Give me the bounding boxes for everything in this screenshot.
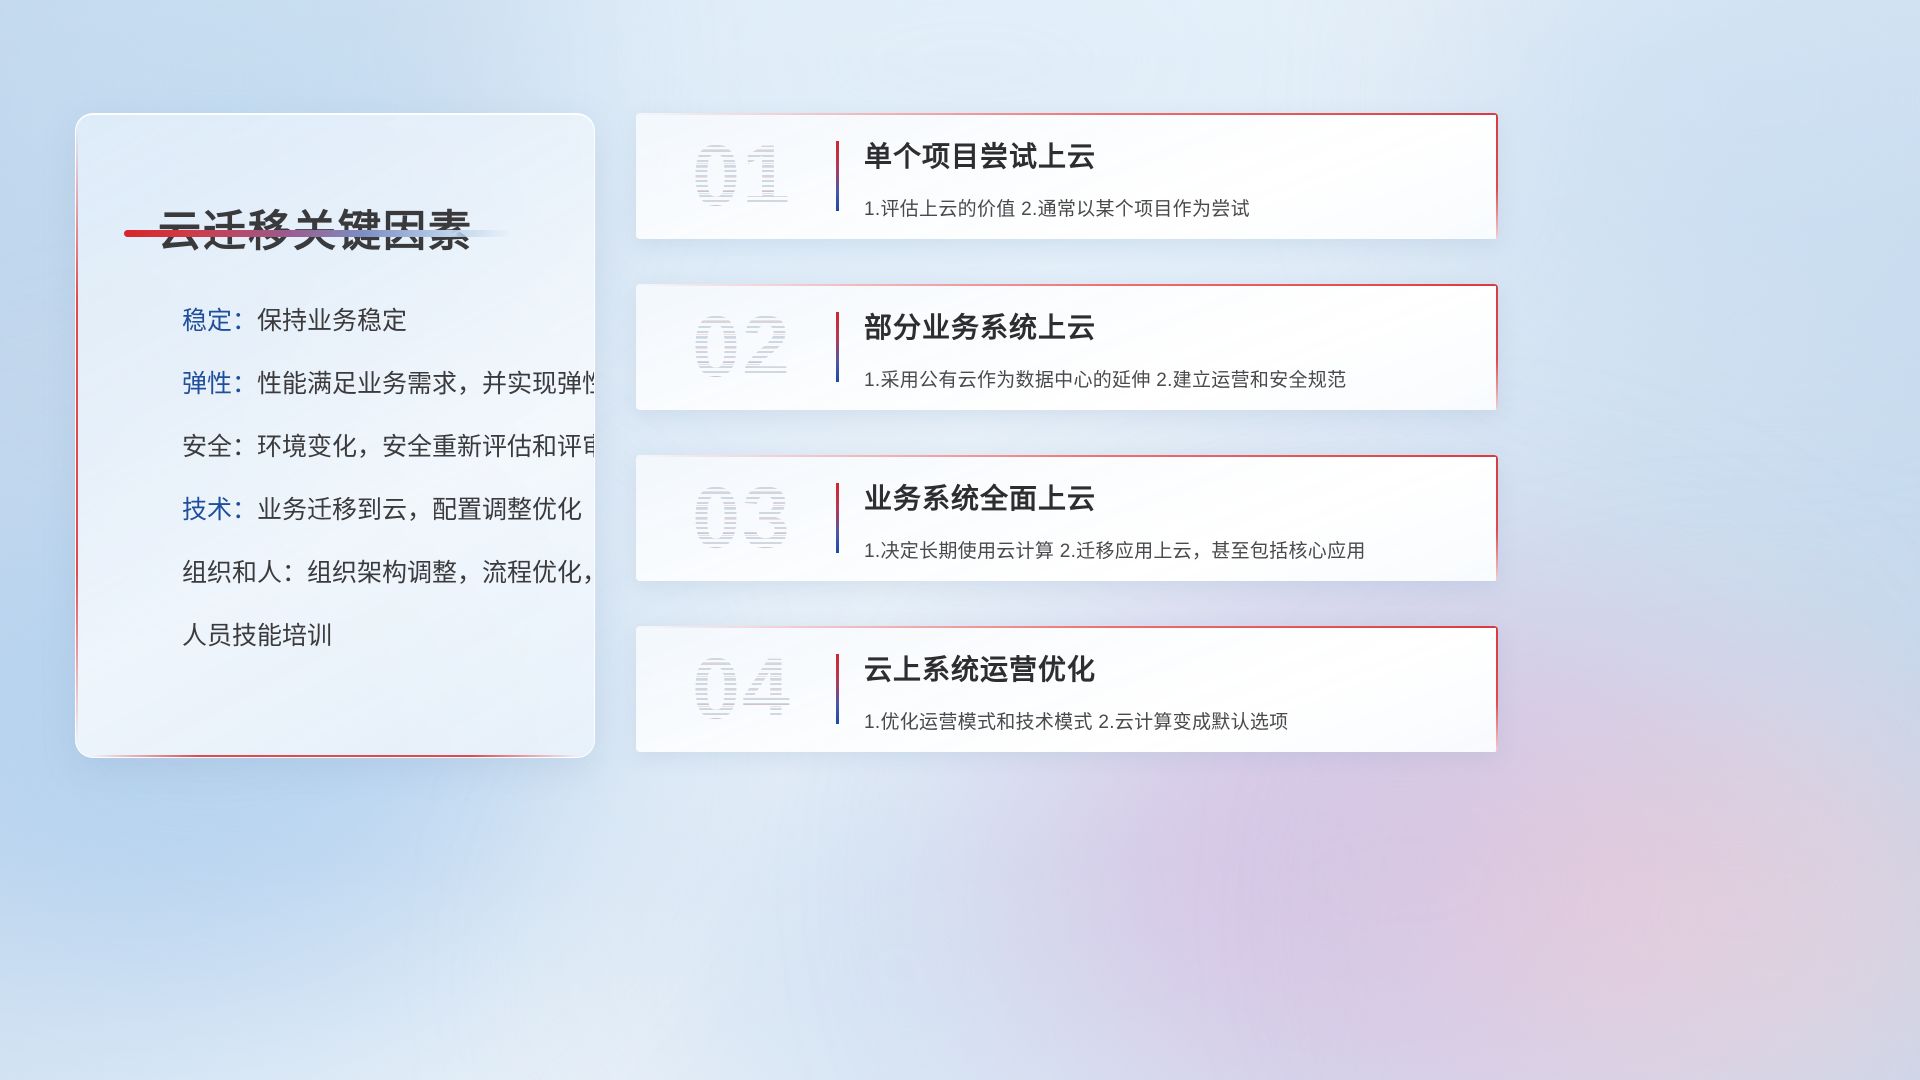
key-factor-row: 组织和人：组织架构调整，流程优化， <box>106 561 570 586</box>
stage-card-04[interactable]: 040404云上系统运营优化1.优化运营模式和技术模式 2.云计算变成默认选项 <box>636 626 1498 752</box>
key-factors-panel: 云迁移关键因素 稳定：保持业务稳定弹性：性能满足业务需求，并实现弹性安全：环境变… <box>75 113 595 758</box>
key-factor-row: 稳定：保持业务稳定 <box>106 309 570 334</box>
card-right-accent <box>1496 626 1498 752</box>
card-title: 单个项目尝试上云 <box>864 135 1474 175</box>
key-factor-label: 组织和人： <box>182 559 307 587</box>
card-divider-bar <box>836 483 839 553</box>
card-divider-bar <box>836 141 839 211</box>
card-title: 云上系统运营优化 <box>864 648 1474 688</box>
card-top-accent <box>636 455 1498 457</box>
card-right-accent <box>1496 455 1498 581</box>
key-factor-text: 组织架构调整，流程优化， <box>307 559 595 587</box>
title-underline-accent <box>124 230 512 237</box>
key-factor-label: 稳定： <box>182 307 257 335</box>
stage-card-02[interactable]: 020202部分业务系统上云1.采用公有云作为数据中心的延伸 2.建立运营和安全… <box>636 284 1498 410</box>
card-number-glyph-blue-stripe: 02 <box>662 301 822 393</box>
card-title: 部分业务系统上云 <box>864 306 1474 346</box>
card-top-accent <box>636 626 1498 628</box>
card-number-glyph-blue-stripe: 04 <box>662 643 822 735</box>
card-number-watermark: 020202 <box>662 301 822 393</box>
card-right-accent <box>1496 284 1498 410</box>
stage-card-03[interactable]: 030303业务系统全面上云1.决定长期使用云计算 2.迁移应用上云，甚至包括核… <box>636 455 1498 581</box>
card-description: 1.决定长期使用云计算 2.迁移应用上云，甚至包括核心应用 <box>864 536 1474 563</box>
key-factor-label: 技术： <box>182 496 257 524</box>
key-factors-list: 稳定：保持业务稳定弹性：性能满足业务需求，并实现弹性安全：环境变化，安全重新评估… <box>106 309 570 649</box>
key-factor-text: 人员技能培训 <box>182 622 332 650</box>
key-factor-row: 技术：业务迁移到云，配置调整优化 <box>106 498 570 523</box>
card-divider-bar <box>836 312 839 382</box>
key-factor-row: 人员技能培训 <box>106 624 570 649</box>
card-body: 业务系统全面上云1.决定长期使用云计算 2.迁移应用上云，甚至包括核心应用 <box>864 477 1474 581</box>
card-right-accent <box>1496 113 1498 239</box>
key-factor-row: 弹性：性能满足业务需求，并实现弹性 <box>106 372 570 397</box>
key-factor-text: 环境变化，安全重新评估和评审 <box>257 433 595 461</box>
card-body: 部分业务系统上云1.采用公有云作为数据中心的延伸 2.建立运营和安全规范 <box>864 306 1474 410</box>
card-description: 1.优化运营模式和技术模式 2.云计算变成默认选项 <box>864 707 1474 734</box>
card-divider-bar <box>836 654 839 724</box>
key-factor-label: 弹性： <box>182 370 257 398</box>
card-number-glyph-blue-stripe: 01 <box>662 130 822 222</box>
key-factor-row: 安全：环境变化，安全重新评估和评审 <box>106 435 570 460</box>
key-factor-label: 安全： <box>182 433 257 461</box>
card-body: 单个项目尝试上云1.评估上云的价值 2.通常以某个项目作为尝试 <box>864 135 1474 239</box>
card-number-glyph-blue-stripe: 03 <box>662 472 822 564</box>
card-number-watermark: 040404 <box>662 643 822 735</box>
card-top-accent <box>636 113 1498 115</box>
card-description: 1.评估上云的价值 2.通常以某个项目作为尝试 <box>864 194 1474 221</box>
card-body: 云上系统运营优化1.优化运营模式和技术模式 2.云计算变成默认选项 <box>864 648 1474 752</box>
card-description: 1.采用公有云作为数据中心的延伸 2.建立运营和安全规范 <box>864 365 1474 392</box>
page-title: 云迁移关键因素 <box>158 197 473 259</box>
card-title: 业务系统全面上云 <box>864 477 1474 517</box>
key-factor-text: 保持业务稳定 <box>257 307 407 335</box>
card-number-watermark: 030303 <box>662 472 822 564</box>
slide-canvas: 云迁移关键因素 稳定：保持业务稳定弹性：性能满足业务需求，并实现弹性安全：环境变… <box>0 0 1920 1080</box>
stage-card-01[interactable]: 010101单个项目尝试上云1.评估上云的价值 2.通常以某个项目作为尝试 <box>636 113 1498 239</box>
key-factor-text: 性能满足业务需求，并实现弹性 <box>257 370 595 398</box>
card-number-watermark: 010101 <box>662 130 822 222</box>
card-top-accent <box>636 284 1498 286</box>
key-factor-text: 业务迁移到云，配置调整优化 <box>257 496 582 524</box>
stage-cards-list: 010101单个项目尝试上云1.评估上云的价值 2.通常以某个项目作为尝试020… <box>636 113 1498 797</box>
